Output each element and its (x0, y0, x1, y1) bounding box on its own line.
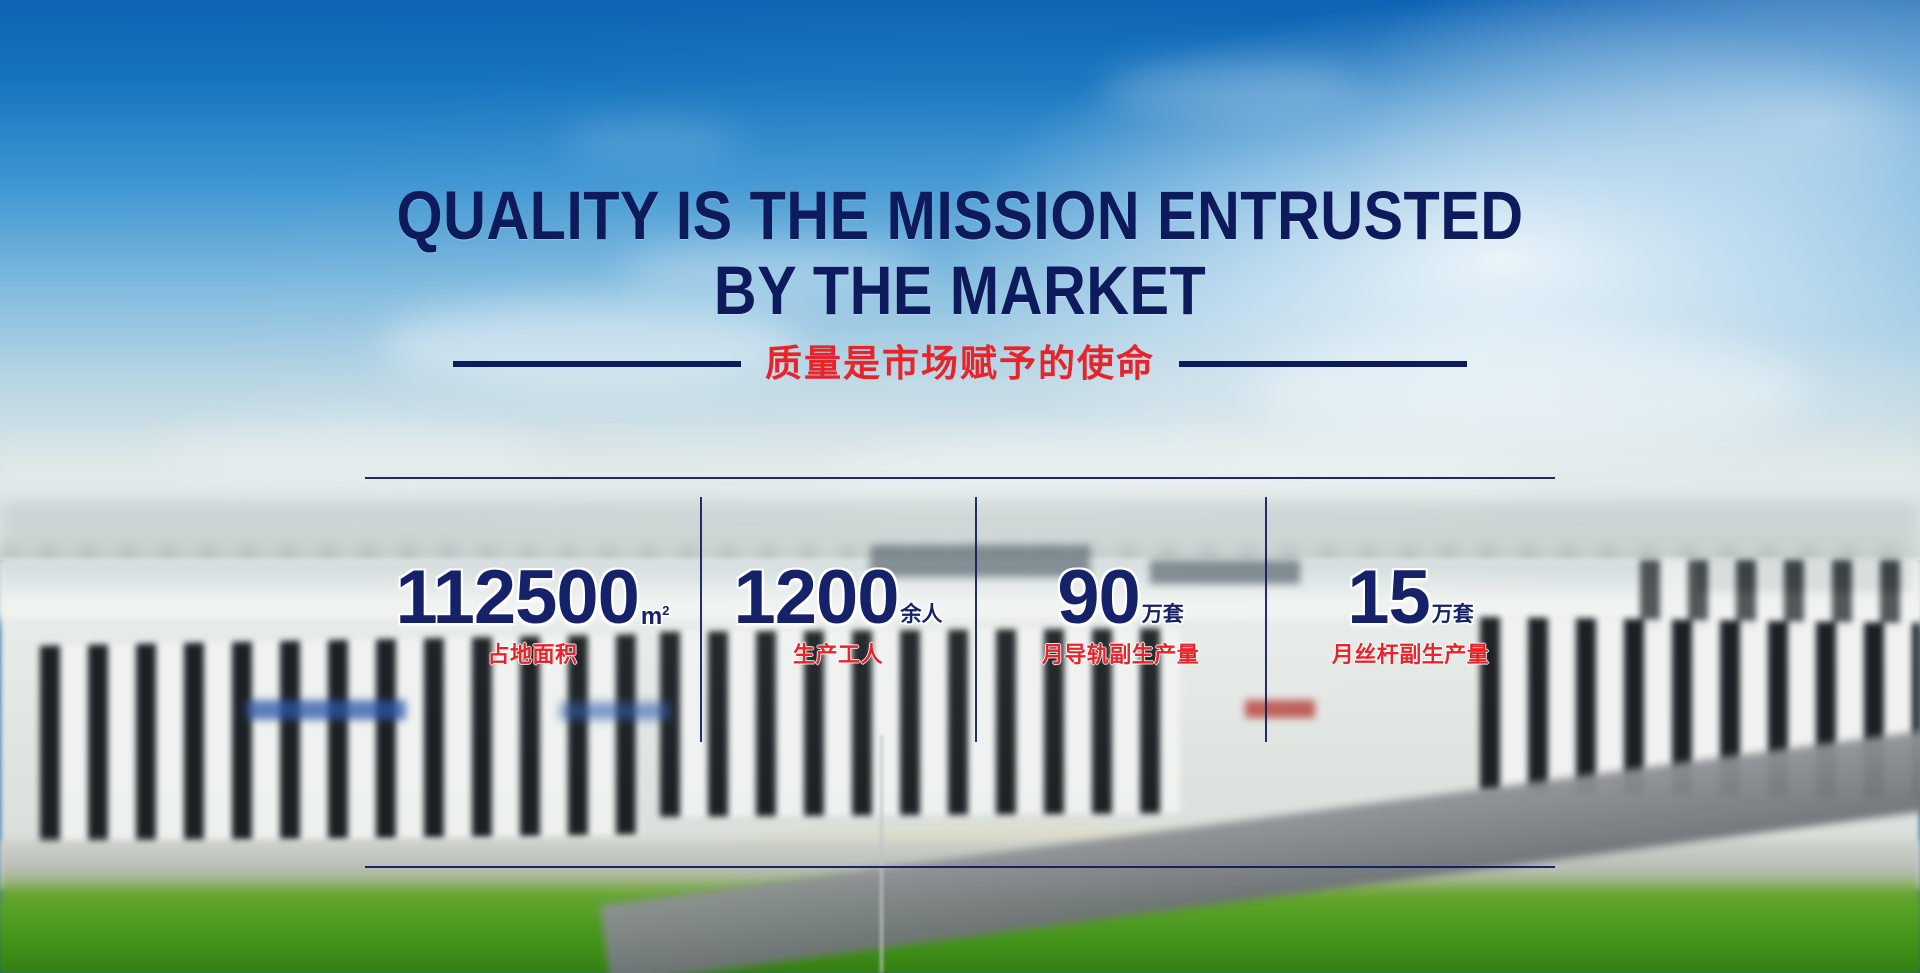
stat-item-workers: 1200 余人 生产工人 (701, 545, 975, 669)
subtitle-row: 质量是市场赋予的使命 (0, 343, 1920, 385)
stat-item-guide-rail-output: 90 万套 月导轨副生产量 (976, 545, 1265, 669)
banner-content: QUALITY IS THE MISSION ENTRUSTED BY THE … (0, 0, 1920, 973)
banner-headline: QUALITY IS THE MISSION ENTRUSTED BY THE … (134, 178, 1785, 328)
stat-unit: 万套 (1432, 604, 1474, 637)
subtitle-rule-left (453, 361, 741, 367)
banner-subtitle-chinese: 质量是市场赋予的使命 (765, 343, 1155, 385)
stat-value: 15 (1347, 559, 1430, 637)
stat-number-line: 90 万套 (976, 545, 1265, 637)
stat-value: 112500 (396, 559, 639, 637)
stat-label: 占地面积 (365, 643, 700, 669)
subtitle-rule-right (1179, 361, 1467, 367)
stats-rule-top (365, 477, 1555, 479)
stat-unit-base: m (641, 603, 662, 630)
stat-label: 月丝杆副生产量 (1266, 643, 1555, 669)
stats-rule-bottom (365, 866, 1555, 868)
stat-label: 生产工人 (701, 643, 975, 669)
stat-number-line: 112500 m2 (365, 545, 700, 637)
stats-row: 112500 m2 占地面积 1200 余人 生产工人 90 万套 (365, 545, 1555, 775)
stat-value: 1200 (733, 559, 898, 637)
stat-unit: 余人 (901, 604, 943, 637)
stat-unit: m2 (641, 606, 670, 637)
stat-unit: 万套 (1142, 604, 1184, 637)
hero-banner: QUALITY IS THE MISSION ENTRUSTED BY THE … (0, 0, 1920, 973)
stat-unit-superscript: 2 (662, 603, 669, 618)
stat-number-line: 15 万套 (1266, 545, 1555, 637)
stat-value: 90 (1057, 559, 1140, 637)
stat-number-line: 1200 余人 (701, 545, 975, 637)
stat-label: 月导轨副生产量 (976, 643, 1265, 669)
stat-item-screw-output: 15 万套 月丝杆副生产量 (1266, 545, 1555, 669)
stat-item-land-area: 112500 m2 占地面积 (365, 545, 700, 669)
